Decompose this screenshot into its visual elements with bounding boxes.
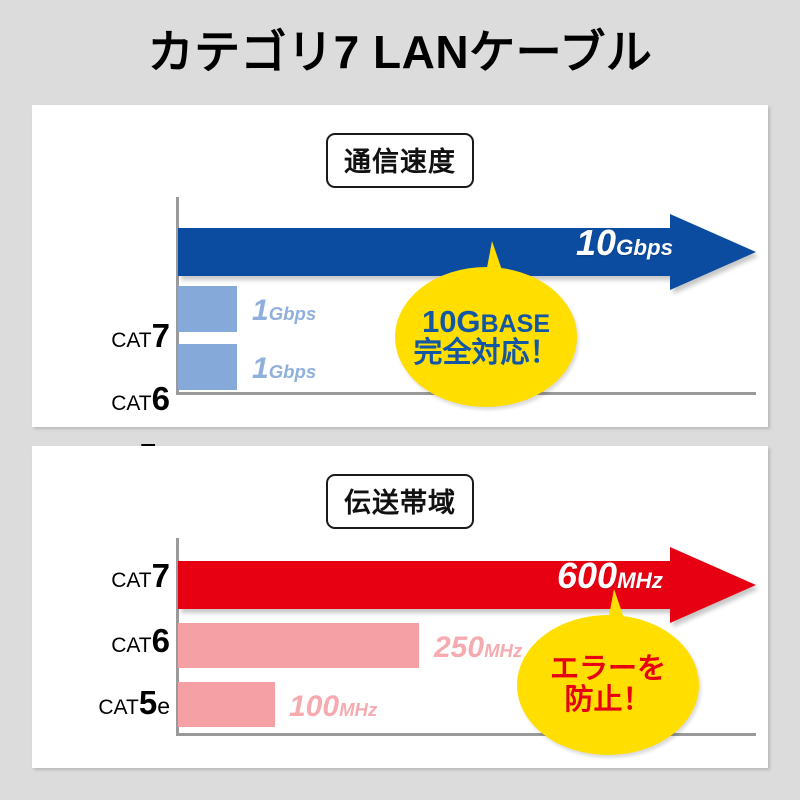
bar-cat6-speed — [178, 286, 237, 332]
category-label-cat7-bandwidth: CAT7 — [78, 559, 170, 592]
badge-text: エラーを 防止！ — [517, 615, 699, 755]
cat-prefix: CAT — [111, 634, 151, 657]
value-label-cat5e-bandwidth: 100MHz — [289, 692, 377, 722]
category-label-cat7-speed: CAT7 — [78, 319, 170, 352]
value-unit: Gbps — [269, 361, 317, 382]
badge-10gbase-support: 10GBASE 完全対応！ — [395, 241, 577, 407]
badge-text: 10GBASE 完全対応！ — [395, 267, 577, 407]
value-unit: Gbps — [616, 235, 673, 260]
value-number: 10 — [576, 222, 616, 263]
cat-number: 6 — [152, 380, 170, 417]
category-label-cat5e-bandwidth: CAT5e — [78, 686, 170, 719]
value-label-cat6-bandwidth: 250MHz — [434, 633, 522, 663]
value-number: 250 — [434, 631, 484, 664]
bar-cat6-bandwidth — [178, 623, 419, 668]
bar-cat5e-speed — [178, 344, 237, 390]
page-title: カテゴリ7 LANケーブル — [0, 24, 800, 80]
cat-number: 7 — [152, 317, 170, 354]
category-label-cat6-bandwidth: CAT6 — [78, 624, 170, 657]
category-label-cat6-speed: CAT6 — [78, 382, 170, 415]
panel-header-transmission-bandwidth: 伝送帯域 — [326, 474, 474, 529]
cat-number: 5 — [139, 684, 157, 721]
badge-line-1-main: 10G — [422, 304, 481, 339]
cat-prefix: CAT — [111, 569, 151, 592]
cat-number: 7 — [152, 557, 170, 594]
value-label-cat6-speed: 1Gbps — [252, 296, 316, 326]
cat-prefix: CAT — [111, 392, 151, 415]
cat-number: 6 — [152, 622, 170, 659]
cat-suffix: e — [157, 693, 170, 719]
badge-line-1: 10GBASE — [422, 305, 550, 338]
value-number: 100 — [289, 690, 339, 723]
panel-header-communication-speed: 通信速度 — [326, 133, 474, 188]
value-label-cat5e-speed: 1Gbps — [252, 354, 316, 384]
value-unit: Gbps — [269, 303, 317, 324]
bar-cat5e-bandwidth — [178, 682, 275, 727]
value-unit: MHz — [339, 699, 377, 720]
panel-transmission-bandwidth: 伝送帯域 CAT7 CAT6 CAT5e 600MHz 250MHz 100MH… — [32, 446, 768, 768]
badge-line-2: 完全対応！ — [413, 338, 558, 369]
badge-line-1: エラーを — [550, 654, 666, 685]
cat-prefix: CAT — [111, 329, 151, 352]
cat-prefix: CAT — [98, 696, 138, 719]
panel-communication-speed: 通信速度 CAT7 CAT6 CAT5e 10Gbps 1Gbps 1Gbps — [32, 105, 768, 427]
badge-line-2: 防止！ — [564, 685, 651, 716]
badge-line-1-main: エラーを — [550, 653, 666, 685]
value-label-cat7-speed: 10Gbps — [576, 225, 673, 261]
badge-error-prevention: エラーを 防止！ — [517, 589, 699, 755]
value-number: 1 — [252, 352, 269, 385]
badge-line-1-sub: BASE — [481, 310, 550, 338]
value-number: 1 — [252, 294, 269, 327]
